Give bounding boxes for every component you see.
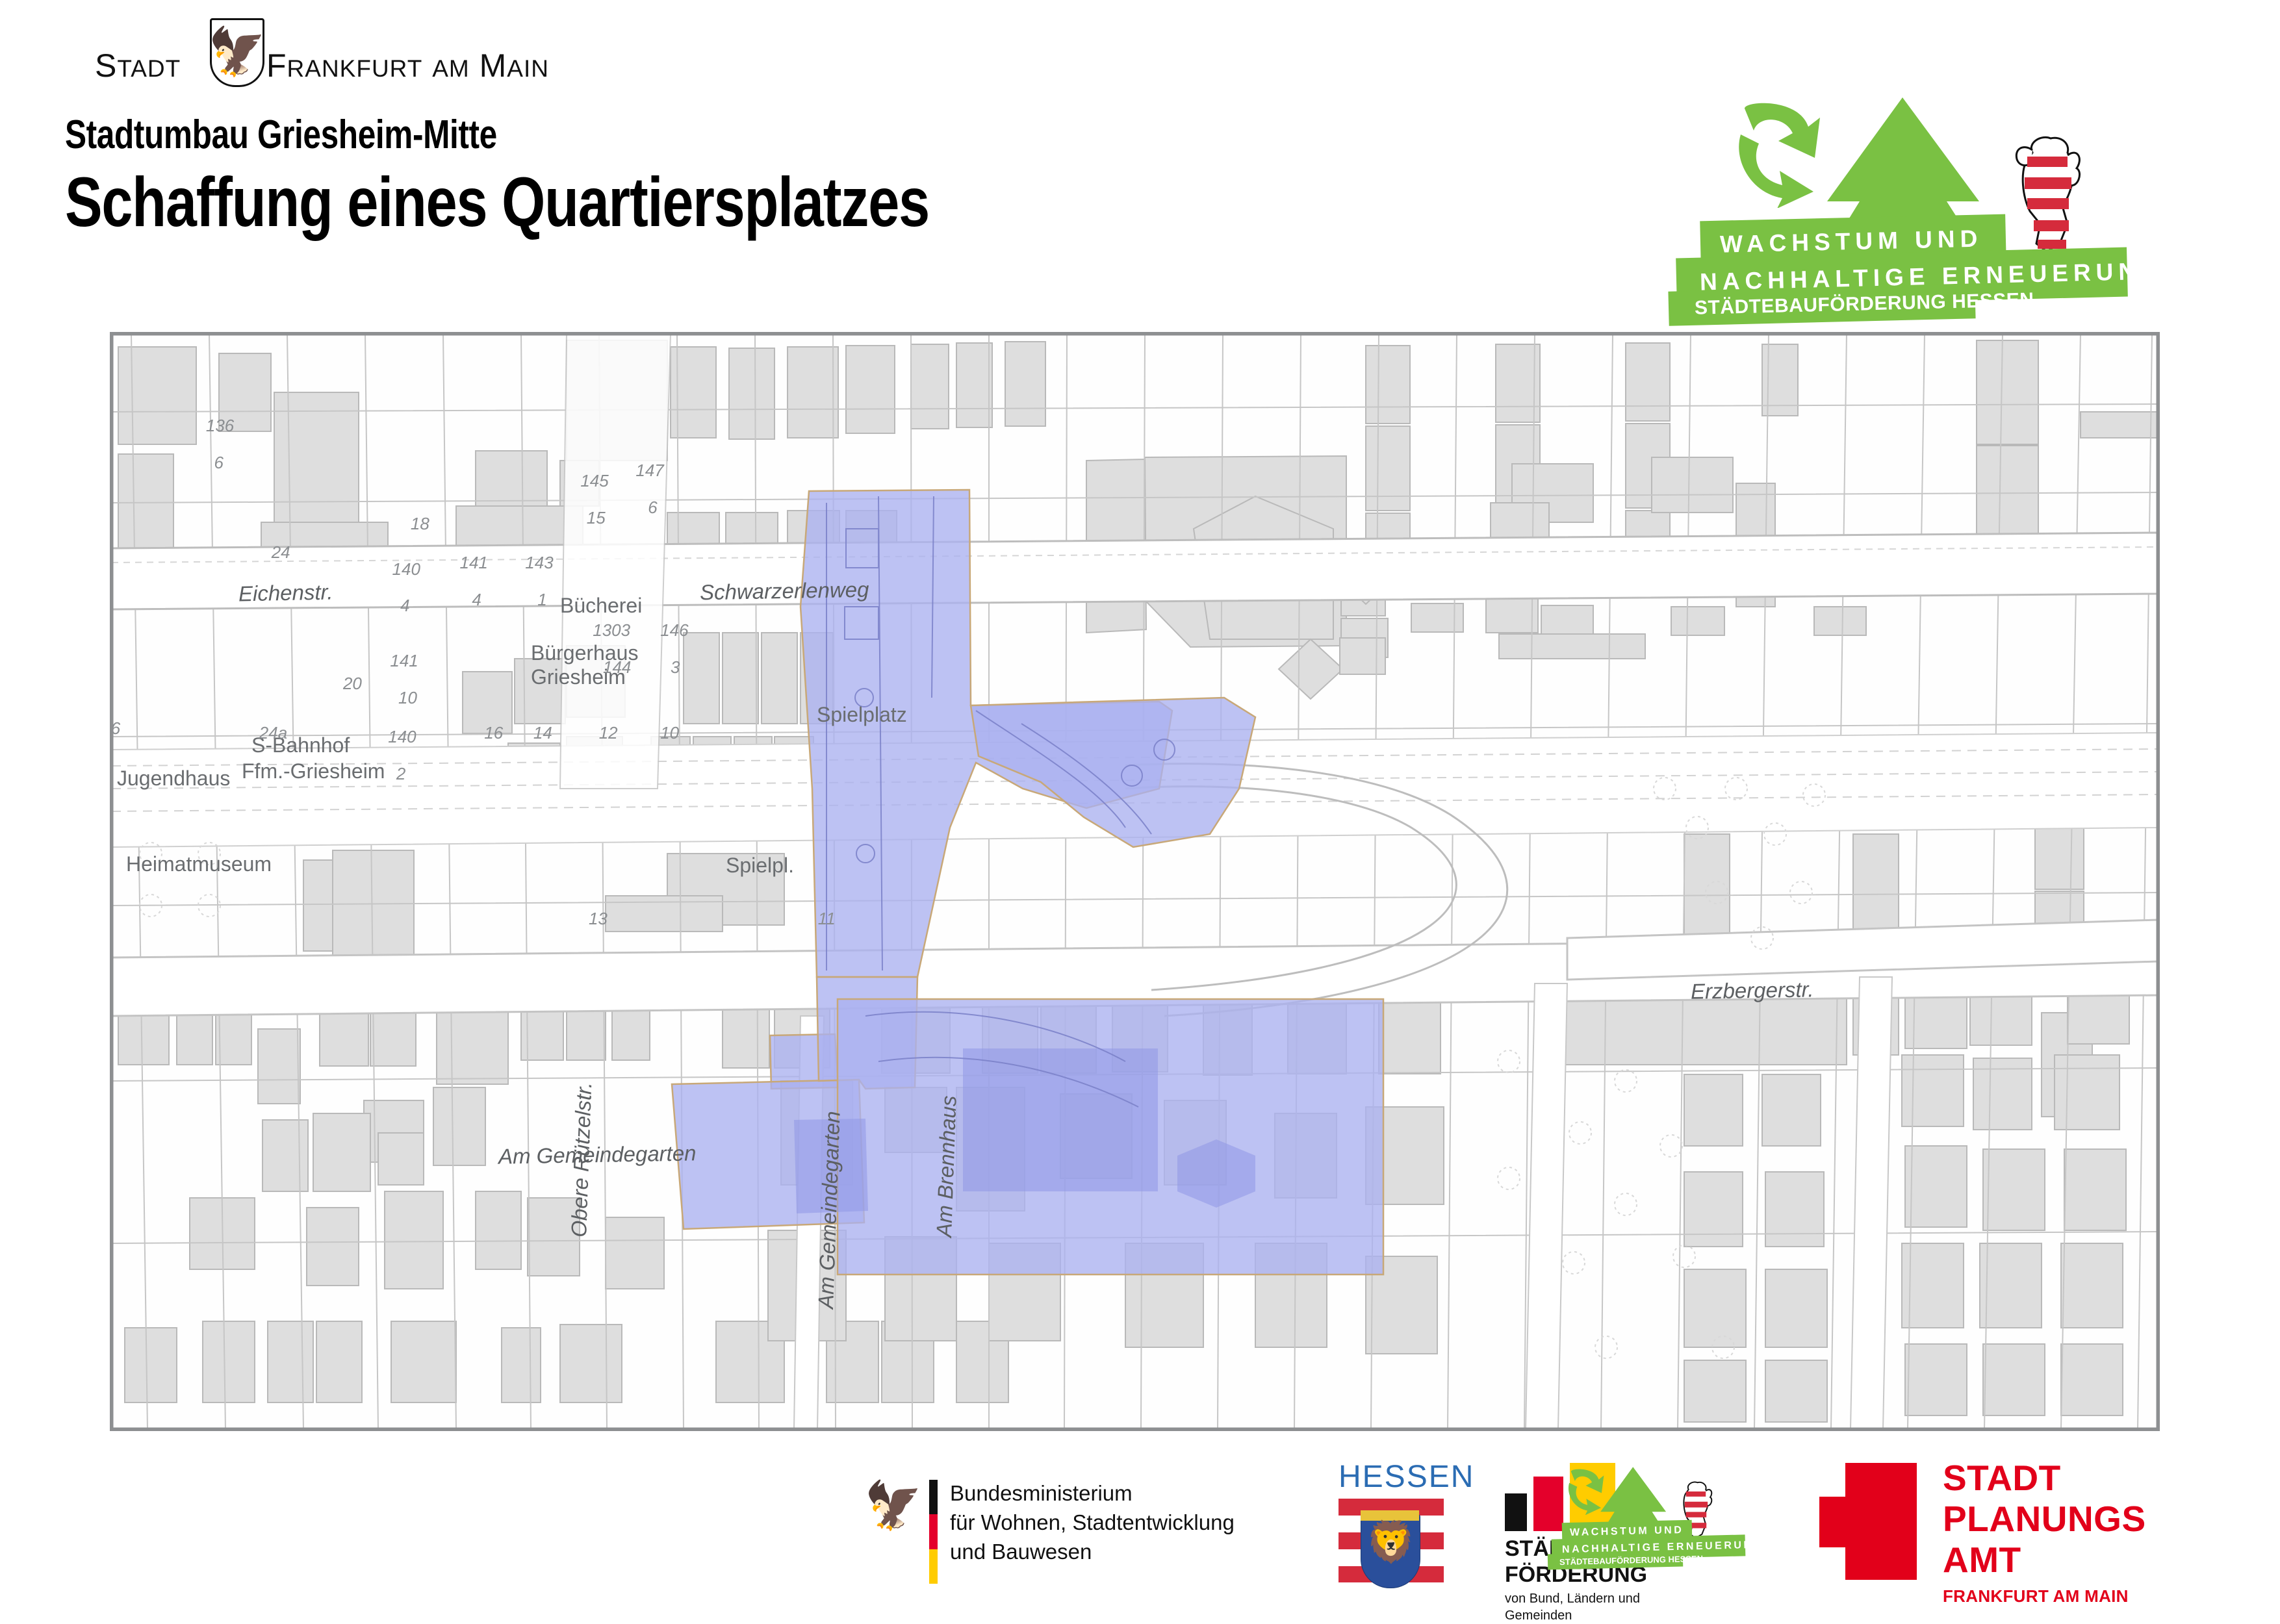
bmwsb-text: Bundesministerium für Wohnen, Stadtentwi… (950, 1478, 1235, 1566)
staedtebau-sub1: von Bund, Ländern und (1505, 1590, 1640, 1607)
bmwsb-line2: für Wohnen, Stadtentwicklung (950, 1508, 1235, 1537)
spa-title: STADT PLANUNGS AMT (1943, 1458, 2146, 1580)
stadtplanungsamt-mark-icon (1819, 1463, 1917, 1580)
wachstum-small-band-3: STÄDTEBAUFÖRDERUNG HESSEN (1548, 1551, 1684, 1569)
bundesadler-icon: 🦅 (864, 1482, 923, 1529)
stadtplanungsamt-logo: STADT PLANUNGS AMT FRANKFURT AM MAIN (1819, 1458, 2183, 1588)
city-logo-part2: FRANKFURT AM MAIN (266, 47, 549, 84)
page-title: Schaffung eines Quartiersplatzes (65, 161, 929, 242)
spa-line3: AMT (1943, 1540, 2146, 1580)
project-subtitle: Stadtumbau Griesheim-Mitte (65, 112, 497, 158)
hessen-lion-icon (2008, 133, 2084, 257)
city-logo-wordmark: STADT FRANKFURT AM MAIN (90, 47, 506, 84)
map-canvas (112, 334, 2158, 1429)
wachstum-logo-small: WACHSTUM UND NACHHALTIGE ERNEUERUNG STÄD… (1559, 1468, 1774, 1585)
staedtebau-sub2: Gemeinden (1505, 1607, 1640, 1624)
recycle-arrow-icon (1737, 101, 1825, 208)
cadastral-map[interactable]: Eichenstr. Schwarzerlenweg Erzbergerstr.… (110, 332, 2160, 1431)
hessen-coat-of-arms-icon: 🦁 (1339, 1499, 1444, 1599)
staedtebau-sub: von Bund, Ländern und Gemeinden (1505, 1590, 1640, 1624)
spa-line2: PLANUNGS (1943, 1499, 2146, 1540)
spa-line1: STADT (1943, 1458, 2146, 1499)
wachstum-band-3: STÄDTEBAUFÖRDERUNG HESSEN (1668, 284, 1975, 326)
spa-sub: FRANKFURT AM MAIN (1943, 1586, 2129, 1606)
funding-logos-bar: 🦅 Bundesministerium für Wohnen, Stadtent… (0, 1449, 2280, 1611)
page-header: 🦅 STADT FRANKFURT AM MAIN Stadtumbau Gri… (0, 0, 2280, 325)
german-flag-bar-icon (929, 1480, 938, 1584)
hessen-logo: HESSEN 🦁 (1339, 1459, 1449, 1599)
city-logo-part1: STADT (95, 47, 181, 84)
bmwsb-line1: Bundesministerium (950, 1478, 1235, 1508)
wachstum-und-nachhaltige-erneuerung-logo: WACHSTUM UND NACHHALTIGE ERNEUERUNG STÄD… (1683, 104, 2203, 370)
bmwsb-line3: und Bauwesen (950, 1537, 1235, 1566)
bmwsb-logo: 🦅 Bundesministerium für Wohnen, Stadtent… (864, 1460, 1254, 1584)
hessen-wordmark: HESSEN (1339, 1459, 1449, 1495)
stadt-frankfurt-logo: 🦅 STADT FRANKFURT AM MAIN (90, 13, 506, 84)
